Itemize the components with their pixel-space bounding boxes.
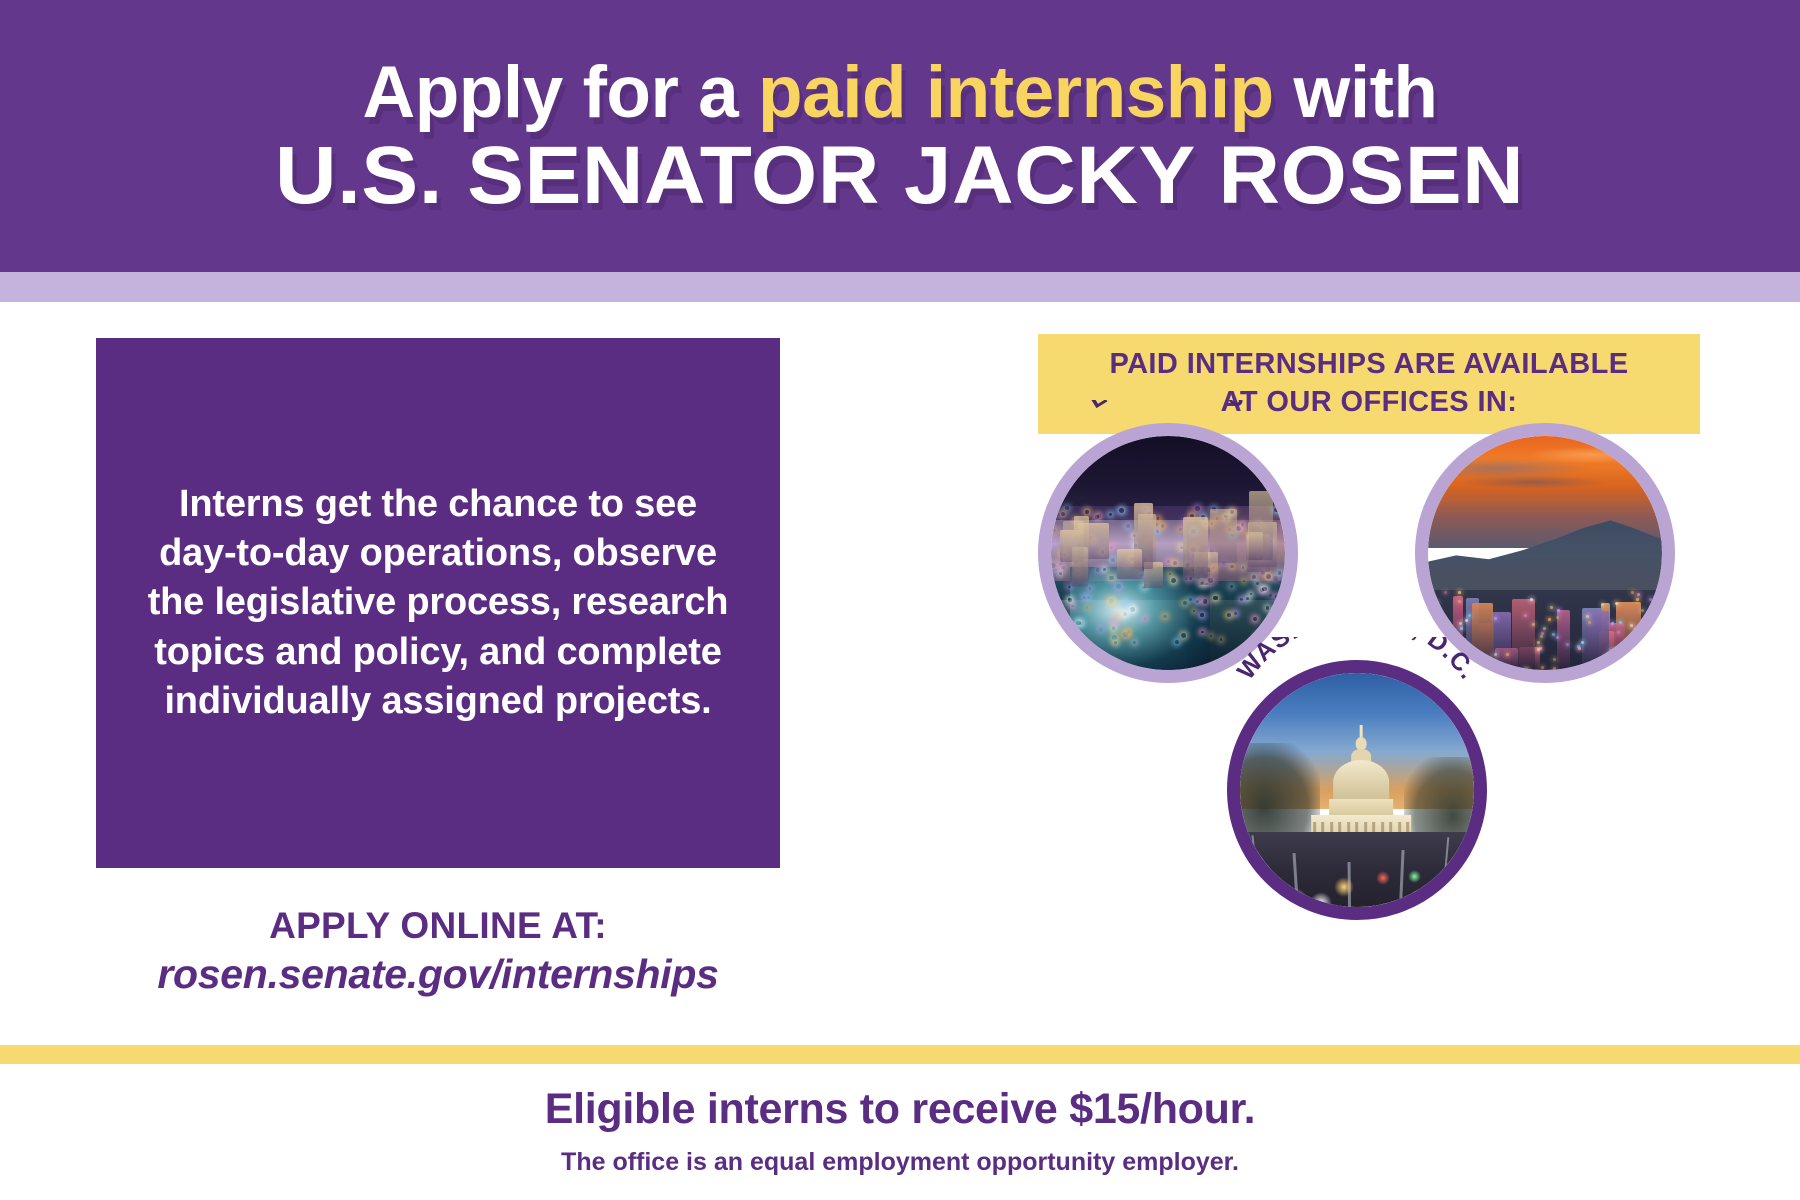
headline-primary: Apply for a paid internship with [363,56,1438,129]
header-accent-stripe [0,272,1800,302]
internship-description-text: Interns get the chance to see day-to-day… [138,480,738,727]
office-circle-reno [1415,423,1675,683]
footer-text-block: Eligible interns to receive $15/hour. Th… [0,1086,1800,1177]
offices-banner-line-1: PAID INTERNSHIPS ARE AVAILABLE [1110,346,1629,384]
footer-pay-pre: Eligible interns to receive [545,1085,1070,1133]
office-circle-las-vegas [1038,423,1298,683]
footer-eeo-statement: The office is an equal employment opport… [0,1148,1800,1177]
header-banner: Apply for a paid internship with U.S. SE… [0,0,1800,272]
headline-accent-text: paid internship [758,52,1274,133]
footer-accent-stripe [0,1045,1800,1064]
reno-photo [1428,436,1662,670]
washington-dc-photo [1240,673,1474,907]
apply-online-url[interactable]: rosen.senate.gov/internships [96,950,780,999]
footer-pay-line: Eligible interns to receive $15/hour. [0,1086,1800,1133]
office-circle-washington-dc [1227,660,1487,920]
internship-description-box: Interns get the chance to see day-to-day… [96,338,780,868]
apply-online-block: APPLY ONLINE AT: rosen.senate.gov/intern… [96,905,780,999]
headline-post-text: with [1274,52,1438,133]
footer-pay-rate: $15/hour. [1069,1085,1255,1133]
headline-pre-text: Apply for a [363,52,759,133]
headline-senator-name: U.S. SENATOR JACKY ROSEN [275,135,1524,217]
offices-banner-line-2: AT OUR OFFICES IN: [1221,384,1518,422]
offices-banner: PAID INTERNSHIPS ARE AVAILABLE AT OUR OF… [1038,334,1700,434]
las-vegas-photo [1051,436,1285,670]
apply-online-label: APPLY ONLINE AT: [96,905,780,948]
